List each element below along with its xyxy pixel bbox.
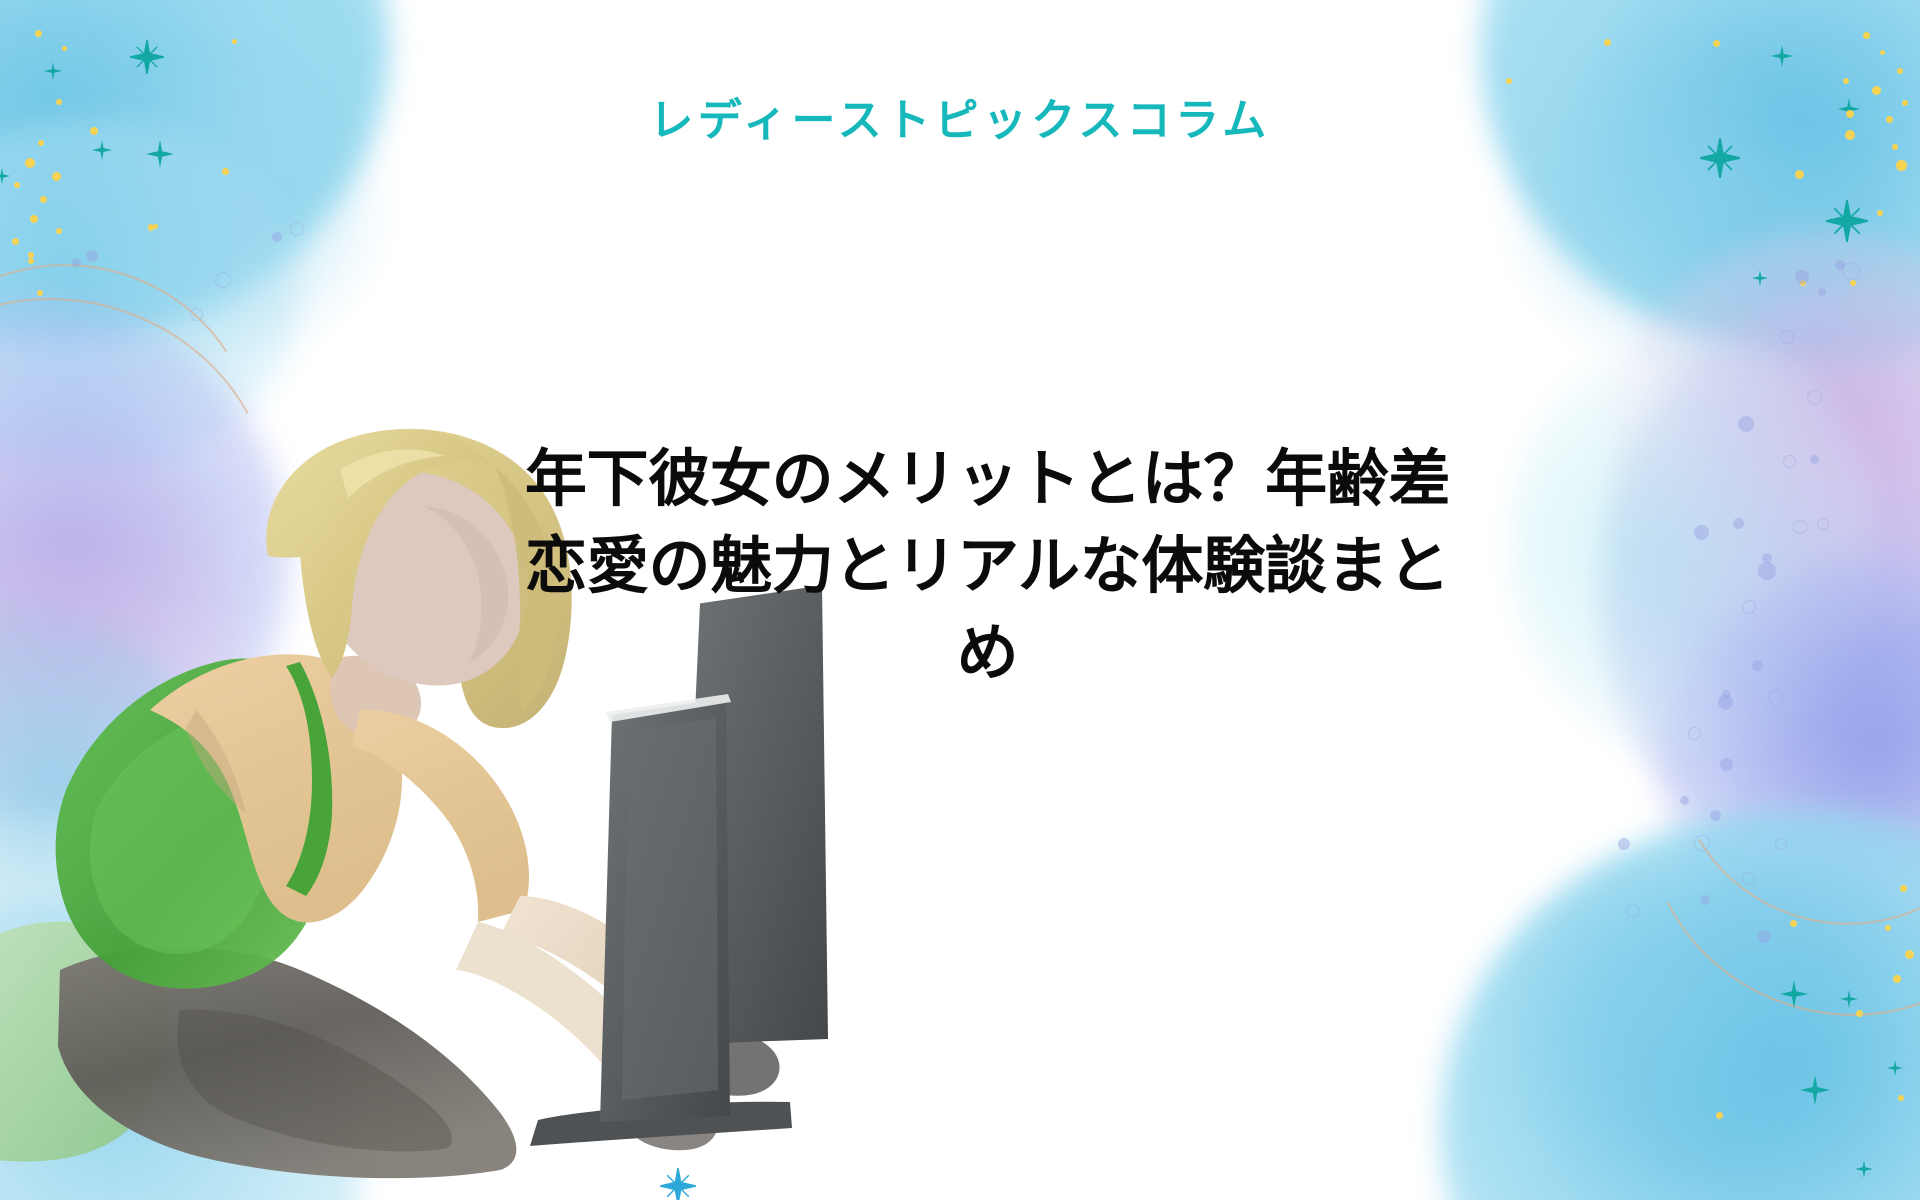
bubble-ring — [1775, 838, 1787, 850]
bubble-ring — [1768, 690, 1783, 705]
glitter-dot — [148, 224, 154, 230]
bubble-ring — [1817, 518, 1829, 530]
glitter-dot — [1850, 280, 1856, 286]
sparkle-star-icon — [1826, 200, 1868, 242]
glitter-dot — [1877, 210, 1883, 216]
sparkle-star-icon — [1752, 270, 1768, 286]
glitter-dot — [1856, 1010, 1863, 1017]
bubble-dot — [1752, 660, 1763, 671]
bubble-ring — [1780, 330, 1794, 344]
watercolor-blob-top-left-1 — [0, 0, 390, 340]
bubble-dot — [1810, 455, 1819, 464]
bubble-dot — [1720, 758, 1733, 771]
bubble-ring — [290, 222, 304, 236]
bubble-dot — [1733, 518, 1744, 529]
glitter-dot — [35, 30, 42, 37]
glitter-dot — [232, 39, 237, 44]
bubble-dot — [1795, 270, 1809, 284]
bubble-ring — [1783, 455, 1796, 468]
glitter-dot — [1905, 950, 1914, 959]
bubble-ring — [190, 308, 203, 321]
glitter-dot — [1893, 975, 1901, 983]
headline-line-3: め — [957, 619, 1019, 688]
sparkle-star-icon — [1771, 45, 1793, 67]
watercolor-blob-bottom-right-3 — [1500, 860, 1830, 1160]
bubble-ring — [1807, 390, 1822, 405]
glitter-dot — [12, 238, 19, 245]
glitter-dot — [30, 215, 38, 223]
glitter-dot — [1896, 160, 1907, 171]
glitter-dot — [1795, 170, 1804, 179]
glitter-dot — [1897, 68, 1903, 74]
sparkle-star-icon — [1800, 1075, 1830, 1105]
sparkle-star-icon — [1855, 1160, 1873, 1178]
bubble-dot — [272, 232, 282, 242]
glitter-dot — [1604, 39, 1611, 46]
glitter-dot — [25, 158, 35, 168]
glitter-dot — [1880, 50, 1885, 55]
glitter-dot — [1885, 925, 1891, 931]
bubble-ring — [1793, 520, 1807, 534]
sparkle-star-icon — [1840, 990, 1858, 1008]
bubble-ring — [1742, 872, 1755, 885]
bubble-dot — [1722, 690, 1731, 699]
bubble-dot — [72, 258, 81, 267]
glitter-dot — [62, 46, 67, 51]
gold-glitter-arc-right-2 — [1596, 594, 1920, 1071]
bubble-ring — [1694, 835, 1710, 851]
bubble-dot — [1835, 260, 1845, 270]
bubble-dot — [1762, 553, 1772, 563]
watercolor-blob-right-mid-4 — [1660, 560, 1920, 980]
glitter-dot — [222, 168, 229, 175]
bubble-dot — [1700, 895, 1710, 905]
glitter-dot — [28, 258, 34, 264]
glitter-dot — [153, 224, 158, 229]
bubble-dot — [1618, 838, 1630, 850]
bubble-ring — [1742, 600, 1756, 614]
headline-line-2: 恋愛の魅力とリアルな体験談まと — [525, 532, 1450, 601]
sparkle-star-icon — [130, 40, 164, 74]
glitter-dot — [56, 228, 62, 234]
watercolor-blob-top-right-1 — [1480, 0, 1920, 360]
sparkle-star-icon — [1780, 980, 1808, 1008]
bubble-ring — [215, 272, 231, 288]
sparkle-star-icon — [1887, 1060, 1903, 1076]
bubble-dot — [1818, 288, 1826, 296]
glitter-dot — [1716, 1112, 1723, 1119]
bubble-dot — [1718, 695, 1733, 710]
page-title: 年下彼女のメリットとは？年齢差 恋愛の魅力とリアルな体験談まと め — [355, 437, 1620, 697]
bubble-dot — [1680, 796, 1689, 805]
watercolor-blob-right-mid-2 — [1610, 230, 1920, 650]
sparkle-star-icon — [0, 168, 10, 184]
bubble-ring — [1842, 262, 1860, 280]
glitter-dot — [28, 252, 34, 258]
watercolor-blob-bottom-right-1 — [1440, 810, 1920, 1200]
watercolor-blob-bottom-right-2 — [1530, 870, 1920, 1200]
glitter-dot — [14, 182, 20, 188]
laptop-screen-sheen — [622, 718, 718, 1100]
bubble-ring — [1688, 727, 1701, 740]
glitter-dot — [1800, 280, 1806, 286]
watercolor-blob-top-right-2 — [1520, 0, 1920, 330]
page-canvas: レディーストピックスコラム — [0, 0, 1920, 1200]
glitter-dot — [40, 196, 47, 203]
glitter-dot — [1713, 40, 1720, 47]
bubble-dot — [86, 250, 98, 262]
gold-glitter-arc-right-1 — [1639, 570, 1920, 964]
site-title: レディーストピックスコラム — [0, 84, 1920, 148]
bubble-ring — [1626, 904, 1640, 918]
glitter-dot — [37, 290, 43, 296]
bubble-dot — [1758, 930, 1771, 943]
glitter-dot — [148, 225, 154, 231]
watercolor-blob-top-left-2 — [0, 0, 330, 300]
bubble-dot — [1710, 810, 1721, 821]
bubble-dot — [1758, 562, 1776, 580]
watercolor-blob-top-right-4 — [1640, 190, 1920, 490]
bubble-dot — [1738, 416, 1754, 432]
glitter-dot — [1863, 32, 1870, 39]
glitter-dot — [52, 172, 61, 181]
watercolor-blob-right-mid-1 — [1600, 290, 1920, 890]
sparkle-star-icon — [44, 62, 62, 80]
headline-line-1: 年下彼女のメリットとは？年齢差 — [525, 445, 1450, 514]
glitter-dot — [1898, 1095, 1904, 1101]
glitter-dot — [1900, 885, 1907, 892]
glitter-dot — [1790, 920, 1797, 927]
bubble-dot — [1694, 525, 1709, 540]
